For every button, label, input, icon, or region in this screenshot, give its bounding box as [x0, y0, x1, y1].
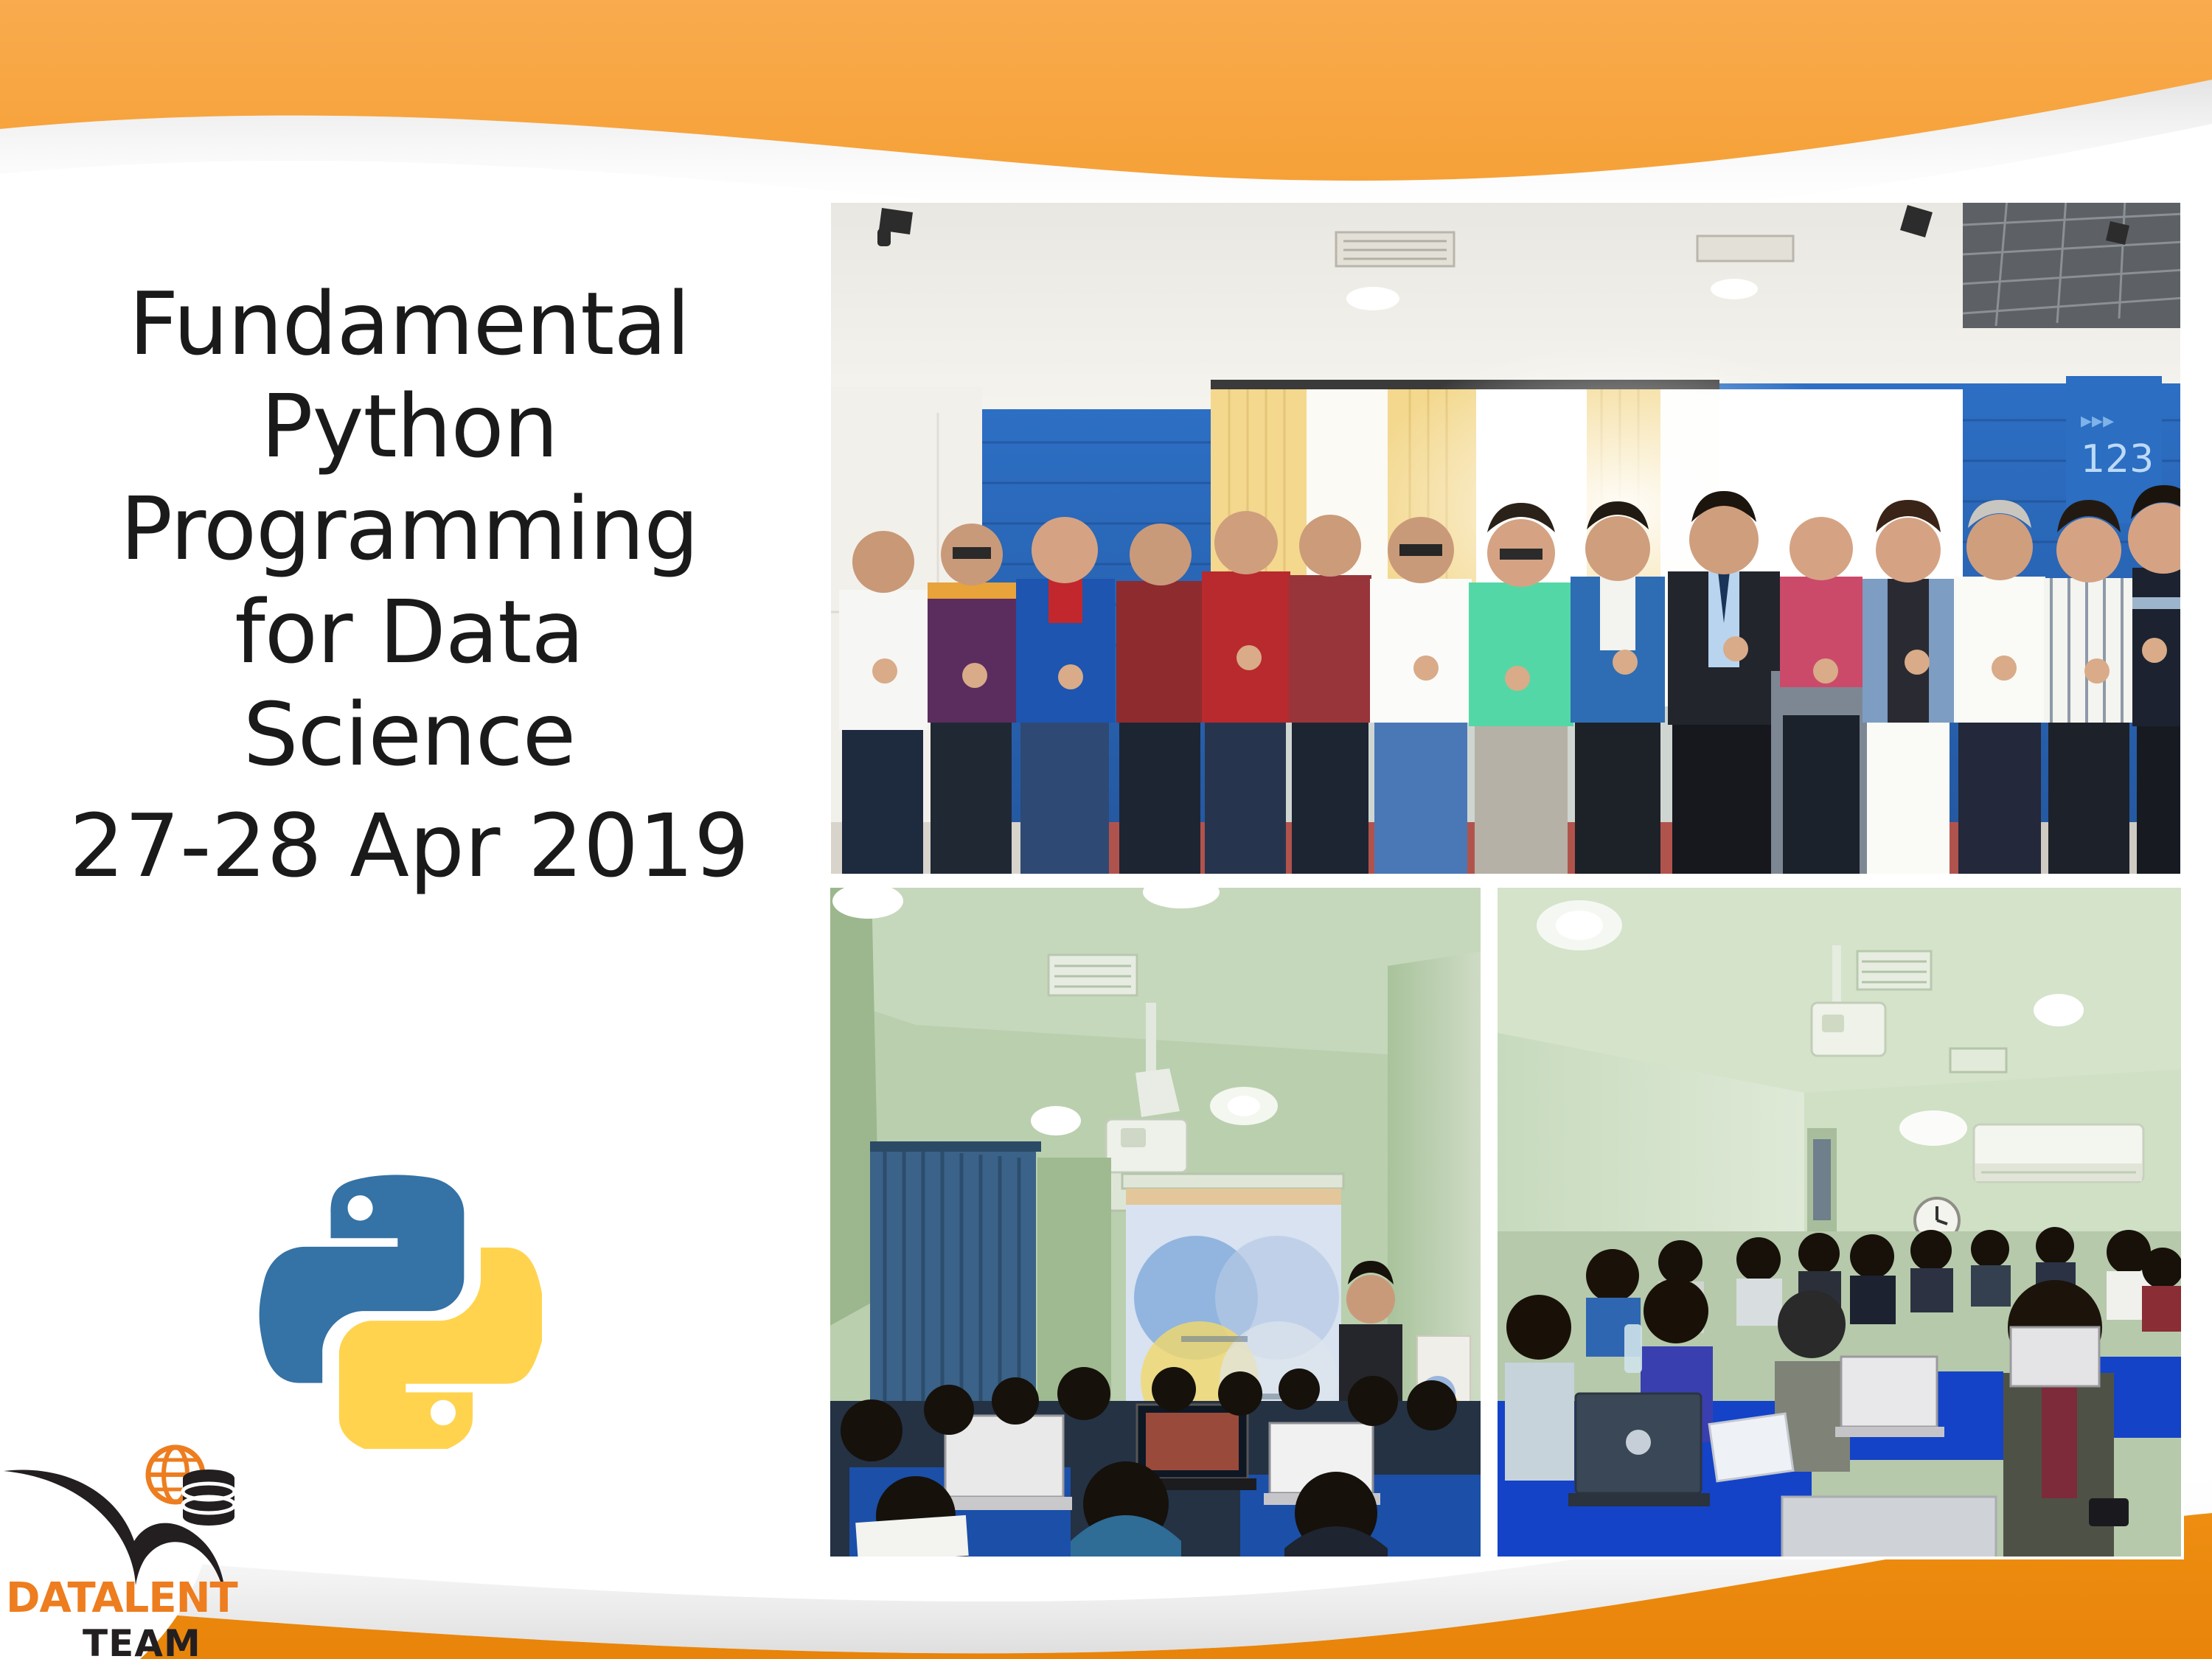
datalent-team-logo: DATALENT TEAM: [0, 1441, 310, 1659]
title-line-4: for Data: [22, 581, 796, 684]
course-date: 27-28 Apr 2019: [22, 793, 796, 900]
classroom-left-photo: [827, 885, 1484, 1559]
slide-canvas: Fundamental Python Programming for Data …: [0, 0, 2212, 1659]
classroom-right-content: [1495, 885, 2184, 1559]
air-conditioner-icon: [1974, 1124, 2143, 1182]
title-line-5: Science: [22, 684, 796, 786]
top-orange-band: [0, 0, 2212, 181]
photo-collage: ▸▸▸ 123: [827, 199, 2184, 1559]
title-line-3: Programming: [22, 478, 796, 580]
group-people: [839, 485, 2184, 877]
logo-subwordmark: TEAM: [83, 1622, 252, 1659]
group-photo-content: ▸▸▸ 123: [827, 199, 2184, 877]
group-photo: ▸▸▸ 123: [827, 199, 2184, 877]
logo-wordmark: DATALENT: [6, 1574, 198, 1622]
title-line-2: Python: [22, 375, 796, 478]
svg-text:123: 123: [2081, 437, 2154, 481]
classroom-left-content: [827, 885, 1484, 1559]
python-logo-icon: [254, 1161, 542, 1449]
database-icon: [183, 1470, 234, 1526]
title-line-1: Fundamental: [22, 273, 796, 375]
classroom-right-photo: [1495, 885, 2184, 1559]
page-title: Fundamental Python Programming for Data …: [22, 273, 796, 900]
svg-text:▸▸▸: ▸▸▸: [2081, 408, 2114, 434]
